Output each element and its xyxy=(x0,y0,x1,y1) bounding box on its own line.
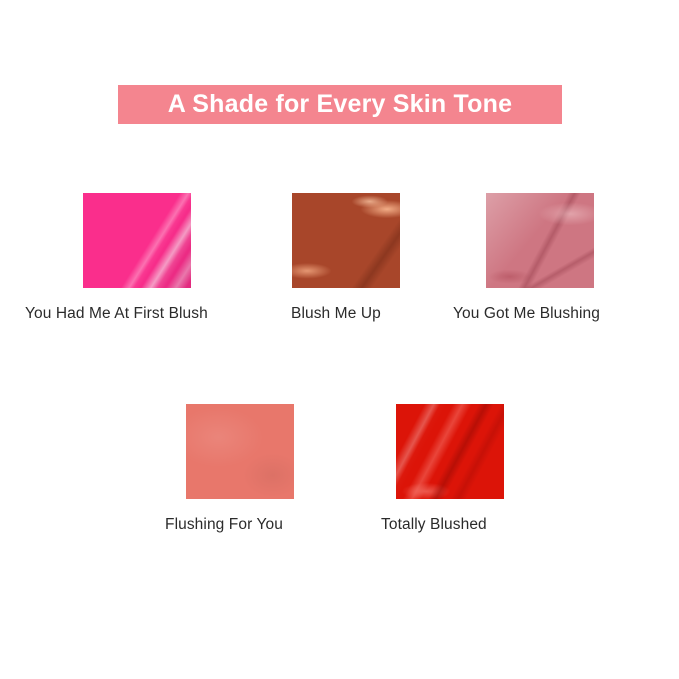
matte-texture-overlay xyxy=(186,404,294,499)
page-title: A Shade for Every Skin Tone xyxy=(168,92,512,117)
shade-label: Totally Blushed xyxy=(381,517,487,533)
shade-label: Blush Me Up xyxy=(291,306,381,322)
shade-item[interactable]: You Got Me Blushing xyxy=(486,193,594,288)
gloss-texture-overlay xyxy=(396,404,504,499)
shade-item[interactable]: Blush Me Up xyxy=(292,193,400,288)
gloss-texture-overlay xyxy=(486,193,594,288)
shade-item[interactable]: Flushing For You xyxy=(186,404,294,499)
shade-label: Flushing For You xyxy=(165,517,283,533)
shade-swatch[interactable] xyxy=(83,193,191,288)
shadow-texture-overlay xyxy=(83,193,191,288)
shade-label: You Got Me Blushing xyxy=(453,306,600,322)
shade-swatch[interactable] xyxy=(486,193,594,288)
shade-swatch[interactable] xyxy=(292,193,400,288)
shade-chart-page: A Shade for Every Skin Tone You Had Me A… xyxy=(0,0,679,679)
shade-item[interactable]: Totally Blushed xyxy=(396,404,504,499)
gloss-texture-overlay xyxy=(83,193,191,288)
gloss-texture-overlay xyxy=(292,193,400,288)
shade-swatch[interactable] xyxy=(396,404,504,499)
title-banner: A Shade for Every Skin Tone xyxy=(118,85,562,124)
shade-label: You Had Me At First Blush xyxy=(25,306,208,322)
shade-swatch[interactable] xyxy=(186,404,294,499)
shade-item[interactable]: You Had Me At First Blush xyxy=(83,193,191,288)
